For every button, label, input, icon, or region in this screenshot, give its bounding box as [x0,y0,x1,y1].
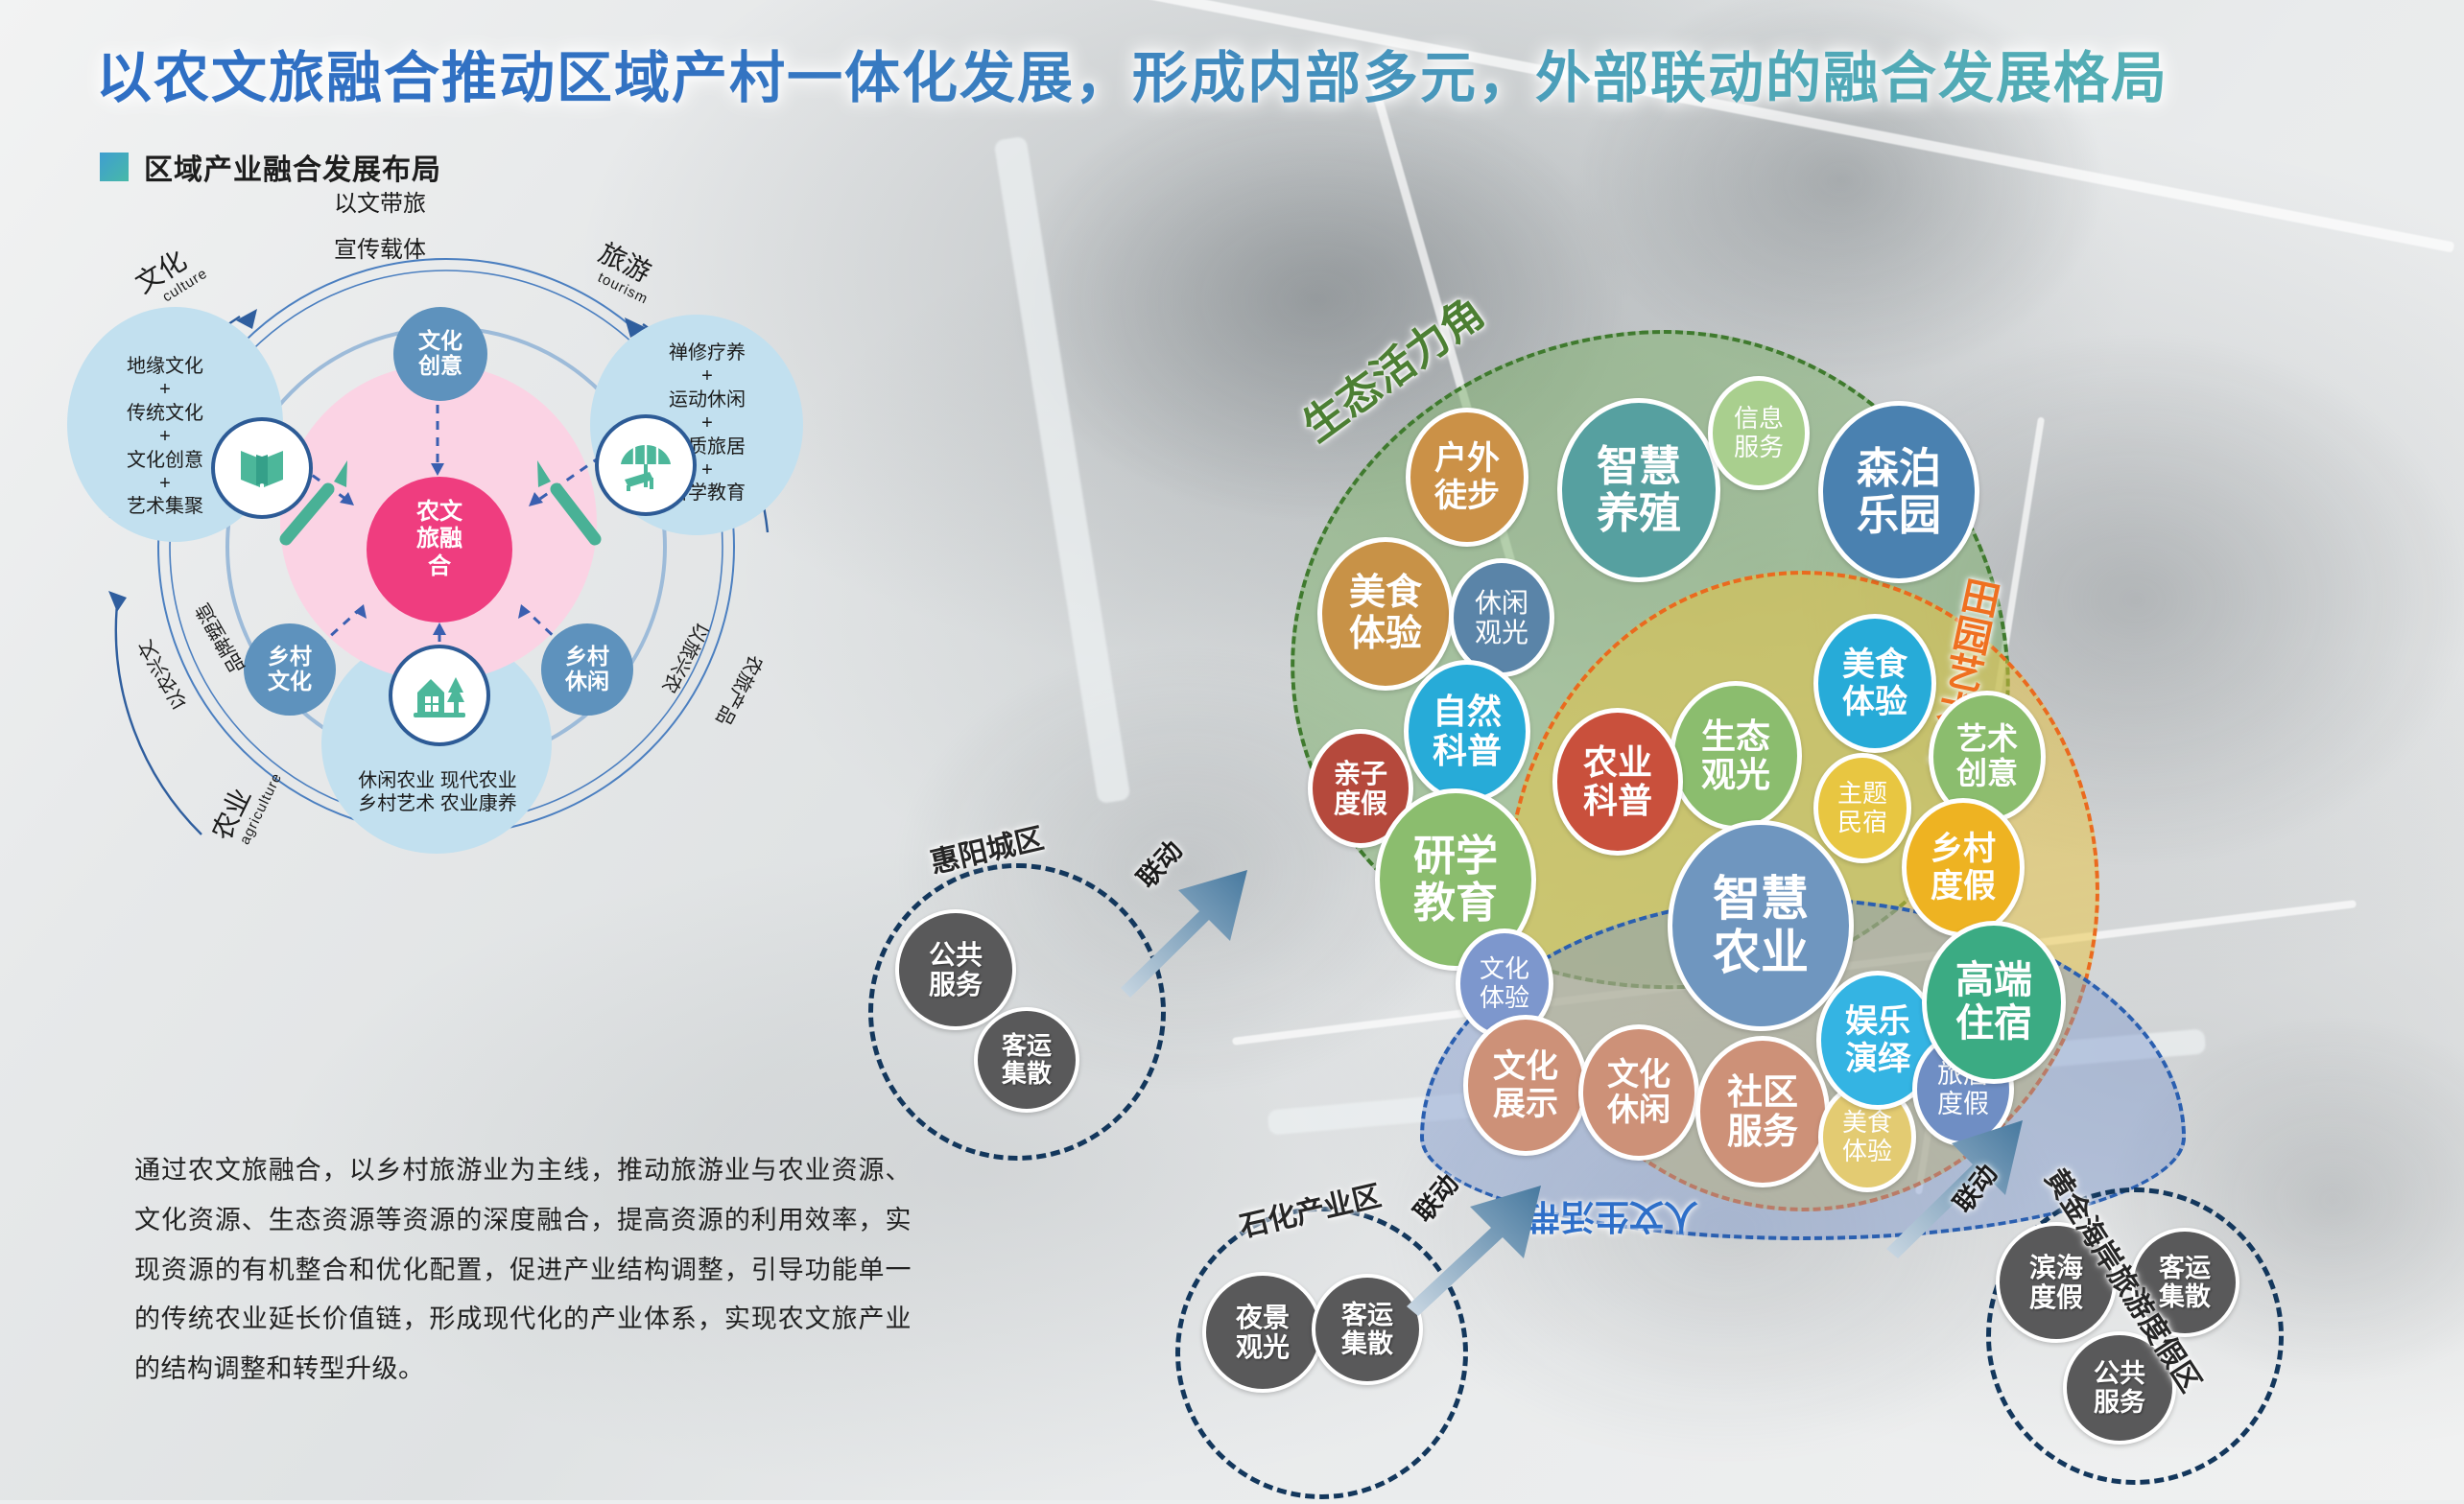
farm-bubble-label: 农业科普 [1583,743,1652,821]
farm-bubble[interactable]: 美食体验 [1813,614,1936,753]
section-subtitle: 区域产业融合发展布局 [100,146,441,188]
belt-bubble[interactable]: 社区服务 [1695,1036,1830,1187]
belt-bubble-label: 文化展示 [1493,1048,1558,1121]
beach-umbrella-icon-glyph [617,437,675,493]
cluster-bubble[interactable]: 客运集散 [974,1007,1079,1113]
eco-bubble-label: 自然科普 [1433,693,1502,770]
subtitle-bullet-square [100,153,129,181]
cluster-bubble[interactable]: 公共服务 [895,909,1016,1030]
link-arrow-huiyang [1103,820,1295,1012]
book-icon-glyph [235,441,289,495]
eco-bubble-label: 信息服务 [1734,405,1784,460]
beach-umbrella-icon [595,414,697,516]
eco-bubble[interactable]: 户外徒步 [1406,408,1528,547]
belt-bubble-label: 高端住宿 [1955,959,2032,1046]
page-title: 以农文旅融合推动区域产村一体化发展，形成内部多元，外部联动的融合发展格局 [96,33,2399,113]
cluster-bubble[interactable]: 夜景观光 [1202,1272,1323,1393]
eco-bubble[interactable]: 自然科普 [1404,660,1530,803]
body-paragraph: 通过农文旅融合，以乡村旅游业为主线，推动旅游业与农业资源、文化资源、生态资源等资… [134,1146,912,1395]
farm-bubble-label: 乡村度假 [1931,831,1996,904]
eco-bubble-label: 亲子度假 [1334,759,1387,819]
link-arrow-petrochem [1391,1132,1593,1324]
farm-bubble-label: 生态观光 [1701,717,1770,795]
node-rural-culture-label: 乡村文化 [244,644,336,694]
agriculture-pod-text: 休闲农业 现代农业 乡村艺术 农业康养 [326,769,549,816]
eco-bubble[interactable]: 森泊乐园 [1818,401,1979,583]
eco-bubble[interactable]: 智慧养殖 [1557,398,1720,582]
subtitle-label: 区域产业融合发展布局 [144,146,441,188]
farm-bubble-label: 美食体验 [1842,646,1907,719]
eco-bubble-label: 美食体验 [1349,573,1422,654]
core-label: 农文旅融合 [367,499,512,580]
farm-bubble[interactable]: 主题民宿 [1813,753,1911,863]
arc-label-top-outer: 以文带旅 [334,184,426,218]
belt-bubble[interactable]: 文化休闲 [1578,1024,1699,1161]
belt-bubble[interactable]: 高端住宿 [1922,921,2066,1084]
concept-diagram: 地缘文化 + 传统文化 + 文化创意 + 艺术集聚 禅修疗养 + 运动休闲 + … [58,201,816,959]
eco-bubble-label: 森泊乐园 [1857,445,1941,540]
eco-bubble-label: 休闲观光 [1475,588,1528,648]
farm-house-icon-glyph [412,670,467,721]
node-rural-leisure-label: 乡村休闲 [541,644,633,694]
eco-bubble-label: 智慧养殖 [1597,443,1681,538]
belt-bubble-label: 文化休闲 [1607,1057,1670,1128]
farm-bubble[interactable]: 生态观光 [1670,681,1802,831]
farm-bubble[interactable]: 农业科普 [1552,708,1683,856]
belt-bubble-label: 社区服务 [1727,1072,1798,1152]
eco-bubble[interactable]: 信息服务 [1708,376,1810,490]
eco-bubble[interactable]: 美食体验 [1317,537,1454,691]
eco-bubble-label: 户外徒步 [1434,440,1500,513]
farm-bubble-label: 主题民宿 [1837,780,1887,835]
belt-bubble-label: 文化体验 [1480,955,1529,1011]
node-culture-creative-label: 文化创意 [393,328,487,379]
farm-house-icon [389,645,490,746]
book-icon [211,417,313,519]
arc-label-top-inner: 宣传载体 [334,230,426,264]
farm-bubble-label: 艺术创意 [1956,722,2018,791]
